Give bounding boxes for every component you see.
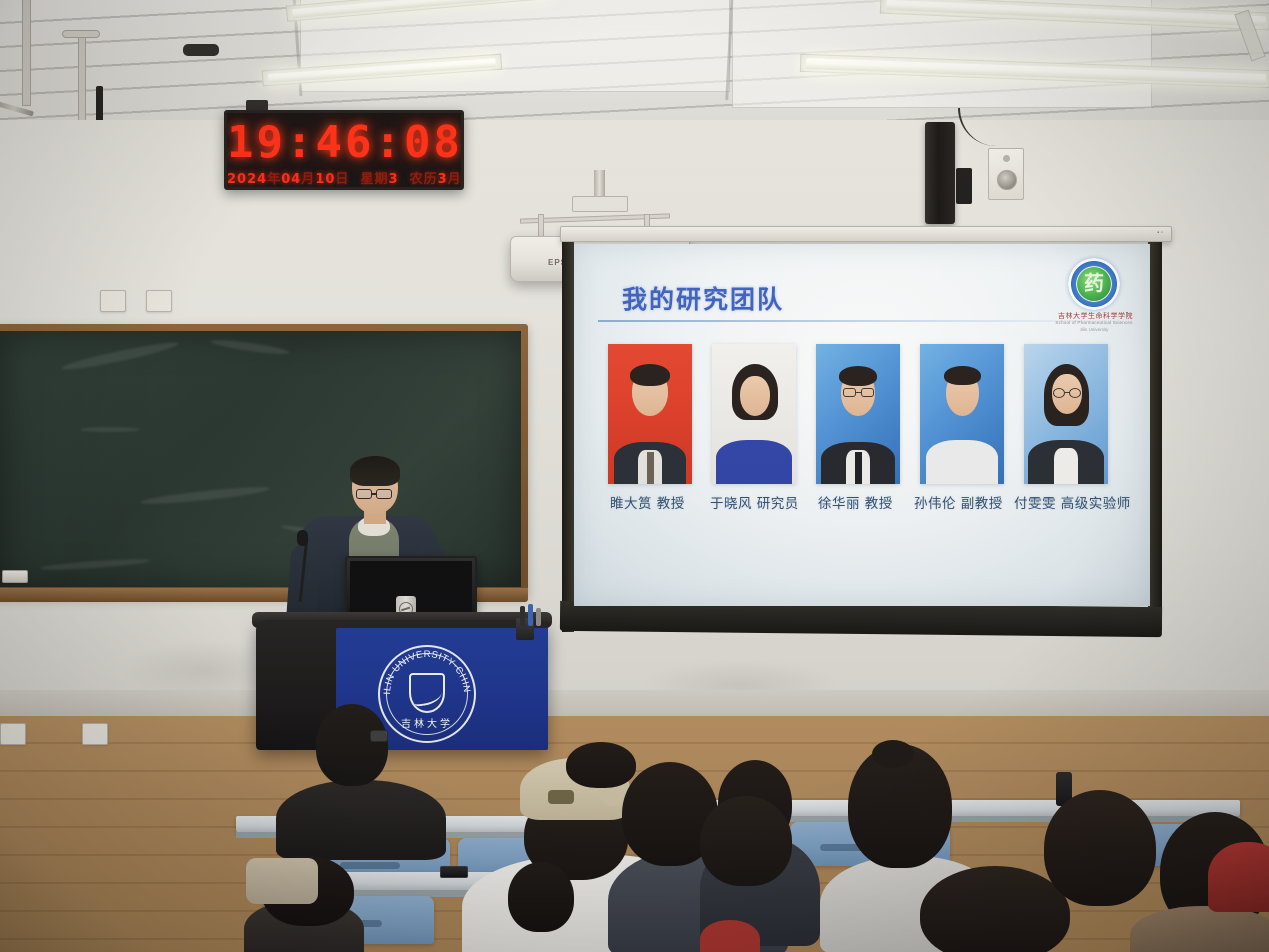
wall-socket[interactable]	[146, 290, 172, 312]
clock-time: 19:46:08	[227, 117, 461, 168]
logo-text-en2: Jilin University	[1058, 327, 1130, 332]
screen-housing: ▪ ▫	[560, 226, 1172, 242]
wall-socket[interactable]	[82, 723, 108, 745]
cap-strap-icon	[548, 790, 574, 804]
clock-date: 2024年04月10日 星期3 农历3月2日	[227, 168, 461, 187]
team-member-label: 付雯雯 高级实验师	[1014, 492, 1131, 512]
column-speaker	[925, 122, 955, 224]
pen[interactable]	[536, 608, 541, 626]
logo-glyph: 药	[1084, 271, 1104, 297]
presenter-glasses	[376, 489, 392, 499]
screen-bottom-bar	[560, 601, 1162, 637]
audience-glasses	[370, 730, 388, 742]
screen-left-edge	[562, 242, 574, 632]
clock-lunar-month-unit: 月	[448, 172, 462, 187]
clock-month: 04	[281, 172, 301, 187]
clock-lunar-day: 2	[462, 172, 464, 187]
logo-text-en: School of Pharmaceutical Sciences	[1044, 320, 1144, 325]
presenter-glasses	[356, 489, 372, 499]
team-portrait	[816, 344, 900, 484]
lecture-hall-photo: 19:46:08 2024年04月10日 星期3 农历3月2日 EPSON ▪ …	[0, 0, 1269, 952]
audience-member	[276, 780, 446, 860]
team-portrait	[1024, 344, 1108, 484]
screen-right-edge	[1148, 242, 1162, 630]
wall-socket[interactable]	[100, 290, 126, 312]
team-member-label: 于晓风 研究员	[710, 492, 799, 512]
team-member-label: 徐华丽 教授	[818, 492, 893, 512]
pole-cap	[62, 30, 100, 38]
emblem-arc-text-svg: JILIN UNIVERSITY·CHINA	[378, 645, 476, 743]
audience-head	[700, 796, 792, 886]
ceiling-pole	[78, 32, 86, 128]
clock-day-unit: 日	[335, 172, 349, 187]
chalk-eraser[interactable]	[2, 570, 28, 583]
speaker-tweeter-icon	[1003, 155, 1010, 162]
pen[interactable]	[520, 606, 525, 626]
clock-weekday-value: 3	[389, 172, 399, 187]
ceiling-vent	[183, 44, 219, 56]
pen[interactable]	[528, 604, 533, 626]
clock-year: 2024	[227, 172, 267, 187]
microphone-icon[interactable]	[297, 530, 308, 546]
audience-head	[920, 866, 1070, 952]
podium-emblem: 吉林大学 JILIN UNIVERSITY·CHINA	[378, 645, 476, 743]
presenter-hair	[350, 456, 400, 486]
projector-mount-plate	[572, 196, 628, 212]
wall-socket[interactable]	[0, 723, 26, 745]
clock-day: 10	[315, 172, 335, 187]
audience-head	[508, 862, 574, 932]
team-portrait	[712, 344, 796, 484]
projection-screen: 我的研究团队 药 吉林大学生命科学学院 School of Pharmaceut…	[574, 244, 1150, 606]
draped-jacket	[246, 858, 318, 904]
led-wall-clock: 19:46:08 2024年04月10日 星期3 农历3月2日	[224, 110, 464, 190]
clock-lunar-month: 3	[438, 172, 448, 187]
ceiling-pole	[22, 0, 31, 106]
emblem-english-text: JILIN UNIVERSITY·CHINA	[378, 645, 472, 695]
speaker-driver-icon	[997, 170, 1017, 190]
clock-month-unit: 月	[301, 172, 315, 187]
audience-head	[316, 704, 388, 786]
team-member-label: 孙伟伦 副教授	[914, 492, 1003, 512]
wall-baseboard	[0, 690, 1269, 718]
audience-member	[700, 920, 760, 952]
team-portrait-row	[608, 344, 1128, 496]
clock-lunar-label: 农历	[410, 172, 438, 187]
team-member-label: 睢大筼 教授	[610, 492, 685, 512]
team-portrait	[608, 344, 692, 484]
school-logo: 药 吉林大学生命科学学院 School of Pharmaceutical Sc…	[1058, 258, 1130, 330]
team-names-row: 睢大筼 教授 于晓风 研究员 徐华丽 教授 孙伟伦 副教授 付雯雯 高级实验师	[574, 492, 1150, 518]
slide-title: 我的研究团队	[622, 280, 784, 316]
clock-year-unit: 年	[267, 172, 281, 187]
audience-member	[1208, 842, 1269, 912]
presenter-glasses-bridge	[372, 493, 376, 495]
seat-slot	[340, 862, 400, 869]
team-portrait	[920, 344, 1004, 484]
slide-title-rule	[598, 320, 1118, 322]
hair-bun	[872, 740, 914, 768]
phone[interactable]	[440, 866, 468, 878]
audience-head	[1044, 790, 1156, 906]
speaker-bracket	[956, 168, 972, 204]
screen-housing-label: ▪ ▫	[1157, 230, 1163, 236]
audience-head	[566, 742, 636, 788]
svg-text:JILIN UNIVERSITY·CHINA: JILIN UNIVERSITY·CHINA	[378, 645, 472, 695]
clock-weekday-label: 星期	[360, 172, 388, 187]
